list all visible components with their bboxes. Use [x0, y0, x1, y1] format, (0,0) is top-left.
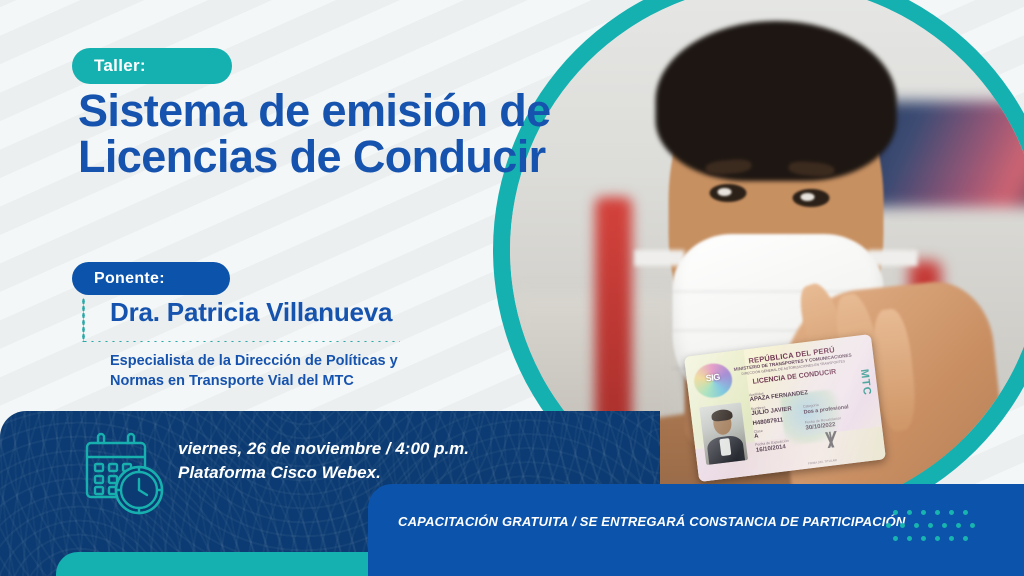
event-poster: SIG REPÚBLICA DEL PERÚ MINISTERIO DE TRA… [0, 0, 1024, 576]
page-title: Sistema de emisión de Licencias de Condu… [78, 88, 578, 181]
license-portrait [699, 402, 748, 465]
badge-taller: Taller: [72, 48, 232, 84]
speaker-name: Dra. Patricia Villanueva [110, 297, 392, 328]
dot [963, 510, 968, 515]
dot [886, 523, 891, 528]
mask-strap-left [635, 250, 685, 266]
event-date-line: viernes, 26 de noviembre / 4:00 p.m. [178, 437, 469, 461]
dot [921, 536, 926, 541]
dot [949, 510, 954, 515]
license-portrait-shirt [719, 438, 731, 456]
person-hair [656, 21, 897, 181]
dot [893, 510, 898, 515]
dotted-rule-vertical [82, 298, 85, 342]
driver-license-card: SIG REPÚBLICA DEL PERÚ MINISTERIO DE TRA… [684, 334, 886, 482]
license-value-clase: A [754, 433, 759, 439]
dot [963, 536, 968, 541]
bottom-banner: CAPACITACIÓN GRATUITA / SE ENTREGARÁ CON… [368, 484, 1024, 576]
dot-grid-decoration [886, 510, 990, 550]
dotted-rule-horizontal [82, 340, 400, 343]
person-eye-highlight-left [718, 188, 731, 196]
dot [907, 536, 912, 541]
dot [914, 523, 919, 528]
dot [949, 536, 954, 541]
dot [956, 523, 961, 528]
banner-text: CAPACITACIÓN GRATUITA / SE ENTREGARÁ CON… [398, 514, 906, 529]
dot [893, 536, 898, 541]
dot [921, 510, 926, 515]
bottom-teal-bar [56, 552, 368, 576]
dot [935, 510, 940, 515]
person-eye-highlight-right [801, 193, 814, 201]
license-value-numero: H48087911 [752, 417, 783, 427]
event-platform-line: Plataforma Cisco Webex. [178, 461, 469, 485]
dot [942, 523, 947, 528]
dot [900, 523, 905, 528]
event-datetime: viernes, 26 de noviembre / 4:00 p.m. Pla… [178, 437, 469, 485]
license-authority-mtc: MTC [858, 368, 872, 396]
dot [928, 523, 933, 528]
dot [907, 510, 912, 515]
dot [970, 523, 975, 528]
dot [935, 536, 940, 541]
speaker-role: Especialista de la Dirección de Política… [110, 352, 450, 391]
calendar-clock-icon [76, 432, 172, 518]
badge-ponente: Ponente: [72, 262, 230, 295]
